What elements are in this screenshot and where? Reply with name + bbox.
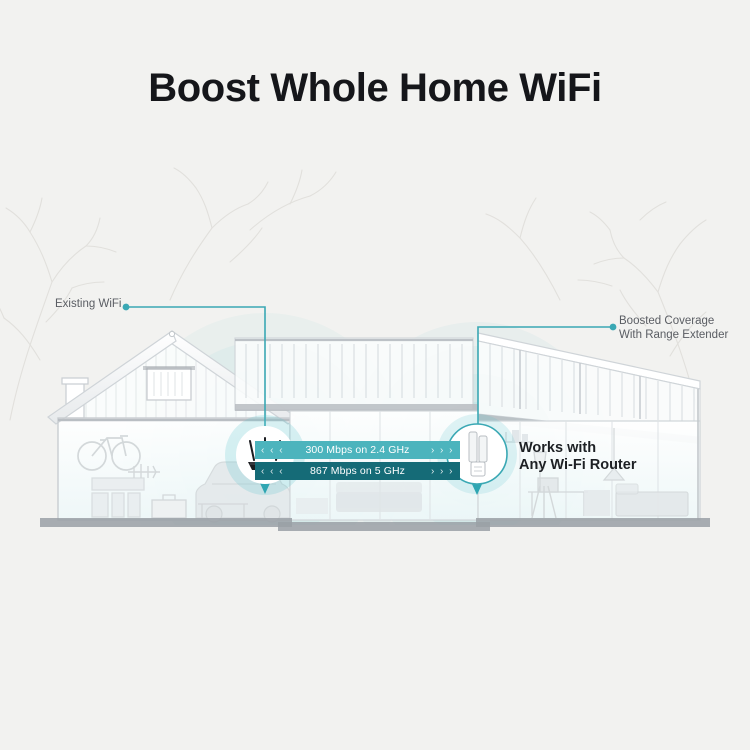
chevrons-left-5g: ‹ ‹ ‹ [255, 466, 290, 477]
chevrons-right-2g: › › › [425, 445, 460, 456]
page-title: Boost Whole Home WiFi [0, 66, 750, 111]
storage-shelf [92, 478, 144, 517]
attic-window [143, 366, 195, 400]
illustration-stage: Boost Whole Home WiFi Existing WiFi Boos… [0, 0, 750, 750]
nightstand-icon [584, 490, 610, 516]
speed-bar-5g: ‹ ‹ ‹ 867 Mbps on 5 GHz › › › [255, 462, 460, 480]
callout-existing-wifi-text: Existing WiFi [55, 298, 121, 310]
works-with-line1: Works with [519, 440, 636, 457]
chevrons-left-2g: ‹ ‹ ‹ [255, 445, 290, 456]
speed-bar-2g: ‹ ‹ ‹ 300 Mbps on 2.4 GHz › › › [255, 441, 460, 459]
sofa-icon [336, 482, 422, 512]
house-cutaway-illustration [0, 0, 750, 750]
callout-boosted-coverage: Boosted Coverage With Range Extender [619, 315, 728, 342]
speed-bar-2g-label: 300 Mbps on 2.4 GHz [290, 444, 425, 456]
speed-bar-5g-label: 867 Mbps on 5 GHz [290, 465, 425, 477]
right-house [478, 333, 700, 520]
chevrons-right-5g: › › › [425, 466, 460, 477]
works-with-caption: Works with Any Wi-Fi Router [519, 440, 636, 474]
callout-boosted-line2: With Range Extender [619, 329, 728, 343]
callout-existing-wifi: Existing WiFi [55, 298, 121, 312]
callout-boosted-line1: Boosted Coverage [619, 315, 728, 329]
works-with-line2: Any Wi-Fi Router [519, 457, 636, 474]
cabinet-icon [296, 498, 328, 514]
